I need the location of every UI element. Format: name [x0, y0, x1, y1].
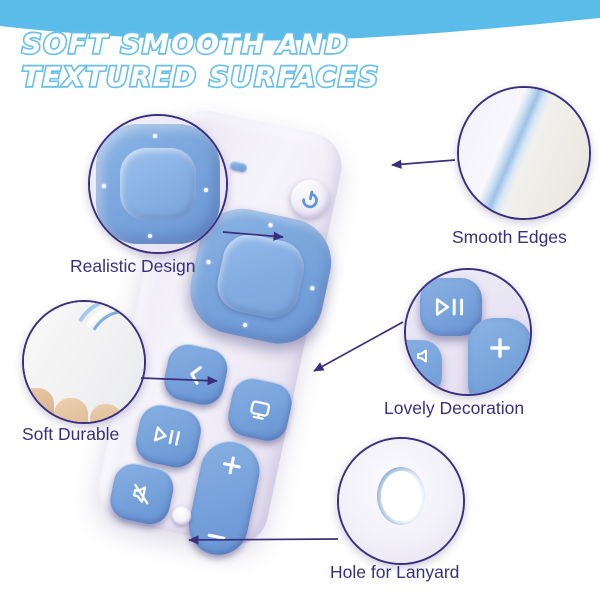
magnifier-soft-durable [22, 300, 146, 424]
dpad-dot-up-icon [153, 134, 157, 138]
dpad-center-button[interactable] [212, 230, 308, 323]
volume-up-plus-icon [488, 336, 512, 360]
dpad-dot-down-icon [148, 234, 152, 238]
label-lovely-decoration: Lovely Decoration [384, 398, 524, 419]
play-pause-icon [434, 297, 468, 317]
power-button[interactable] [287, 176, 332, 221]
volume-up-plus-icon [218, 452, 244, 478]
tv-button[interactable] [224, 374, 295, 444]
dpad-dot-down-icon [243, 323, 248, 328]
magnifier-lovely-decoration [404, 268, 532, 396]
dpad-dot-left-icon [102, 184, 106, 188]
back-button[interactable] [161, 340, 232, 408]
led-indicator-icon [229, 161, 247, 173]
mute-button[interactable] [107, 460, 178, 528]
page-title: Soft Smooth And Textured Surfaces [22, 28, 582, 94]
dpad-dot-up-icon [268, 223, 273, 228]
label-smooth-edges: Smooth Edges [452, 227, 567, 248]
dpad-dot-left-icon [206, 260, 211, 265]
label-soft-durable: Soft Durable [22, 424, 119, 445]
mute-speaker-icon [128, 481, 156, 508]
play-pause-icon [152, 424, 185, 448]
label-realistic-design: Realistic Design [70, 256, 195, 277]
magnifier-hole-for-lanyard [337, 437, 465, 565]
mute-speaker-icon [416, 348, 434, 364]
power-icon [297, 186, 322, 211]
magnifier-smooth-edges [457, 86, 591, 220]
label-hole-for-lanyard: Hole for Lanyard [330, 562, 459, 583]
volume-down-minus-icon [204, 529, 228, 543]
dpad-dot-right-icon [204, 188, 208, 192]
dpad-dot-right-icon [310, 286, 315, 291]
magnifier-realistic-design [88, 114, 228, 254]
product-feature-infographic: Soft Smooth And Textured Surfaces Soft S… [0, 0, 600, 600]
back-chevron-icon [186, 362, 206, 387]
tv-screen-icon [246, 396, 274, 423]
